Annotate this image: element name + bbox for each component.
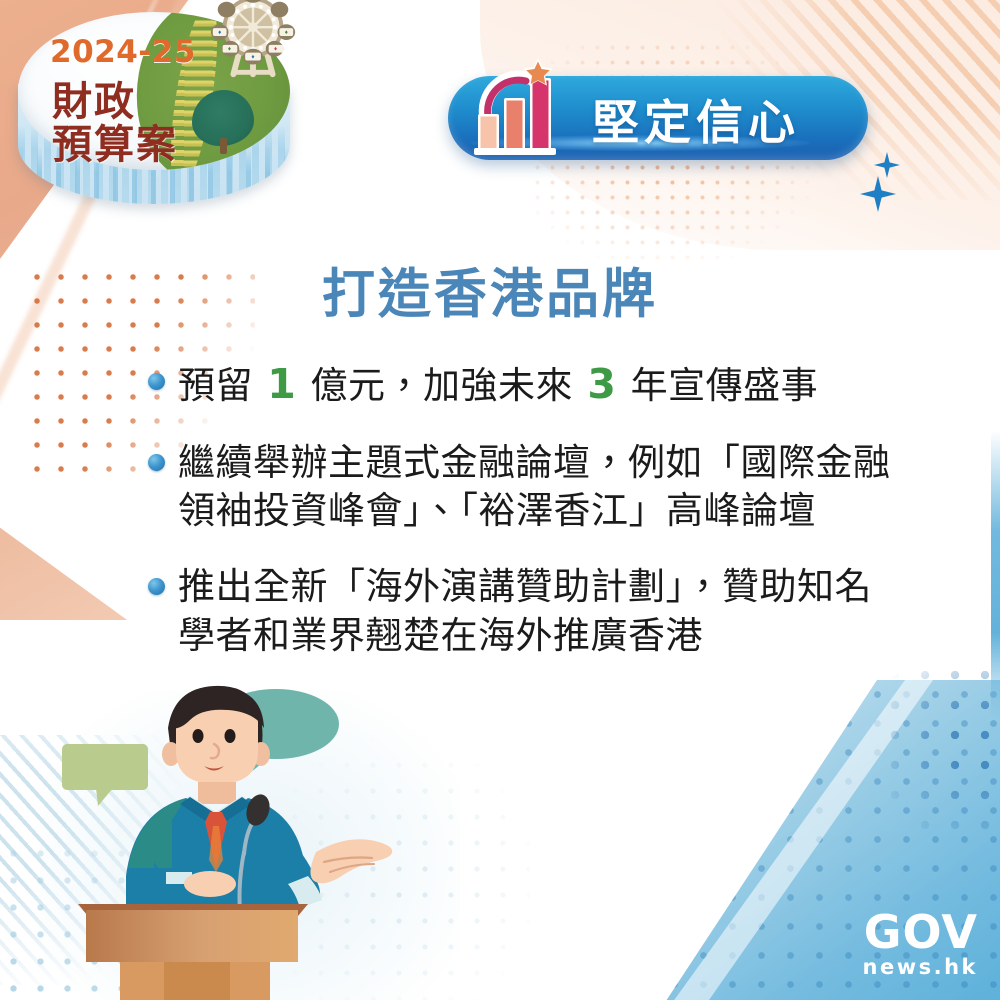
hand-left	[184, 871, 236, 897]
text-segment: 億元，加強未來	[298, 364, 585, 407]
list-item: 預留 1 億元，加強未來 3 年宣傳盛事	[148, 358, 908, 411]
bottom-right-dense-dots	[850, 660, 1000, 850]
sparkle-icon-small	[874, 152, 900, 178]
svg-text:♦: ♦	[217, 30, 221, 36]
text-segment: 預留	[178, 364, 265, 407]
bullet-list: 預留 1 億元，加強未來 3 年宣傳盛事 繼續舉辦主題式金融論壇，例如「國際金融…	[148, 358, 908, 688]
eye-left	[193, 729, 204, 743]
highlight-number: 1	[265, 360, 298, 408]
badge-title-line2: 預算案	[52, 112, 178, 170]
page-title: 打造香港品牌	[322, 252, 658, 328]
logo-newshk-text: news.hk	[863, 957, 979, 978]
text-segment: 繼續舉辦主題式金融論壇，例如「國際金融領袖投資峰會」、「裕澤香江」高峰論壇	[178, 441, 891, 532]
hand-right	[310, 839, 392, 883]
speech-bubble-green-icon	[62, 744, 148, 806]
podium	[78, 904, 308, 1000]
sparkle-icon-large	[860, 176, 896, 212]
ferris-wheel-icon: ♦ ♦ ♦ ♦ ♦	[204, 0, 302, 86]
list-item: 繼續舉辦主題式金融論壇，例如「國際金融領袖投資峰會」、「裕澤香江」高峰論壇	[148, 439, 908, 535]
tree-trunk	[220, 138, 227, 154]
bullet-text: 推出全新「海外演講贊助計劃」，贊助知名學者和業界翹楚在海外推廣香港	[178, 563, 908, 659]
bar-chart-star-icon	[466, 56, 570, 160]
svg-text:♦: ♦	[227, 47, 231, 53]
bullet-text: 繼續舉辦主題式金融論壇，例如「國際金融領袖投資峰會」、「裕澤香江」高峰論壇	[178, 439, 908, 535]
text-segment: 年宣傳盛事	[618, 364, 818, 407]
bullet-text: 預留 1 億元，加強未來 3 年宣傳盛事	[178, 358, 818, 411]
right-edge-blue-strip	[991, 430, 1000, 720]
budget-badge: ♦ ♦ ♦ ♦ ♦ 2024-25 財政 預算案	[8, 0, 308, 227]
infographic-poster: ♦ ♦ ♦ ♦ ♦ 2024-25 財政 預算案 堅定信心	[0, 0, 1000, 1000]
bullet-dot-icon	[148, 373, 165, 390]
badge-year-label: 2024-25	[50, 34, 196, 70]
eye-right	[225, 729, 236, 743]
svg-text:♦: ♦	[273, 47, 277, 53]
govhk-news-logo: GOV news.hk	[863, 909, 979, 978]
bullet-dot-icon	[148, 578, 165, 595]
text-segment: 推出全新「海外演講贊助計劃」，贊助知名學者和業界翹楚在海外推廣香港	[178, 565, 872, 656]
svg-text:♦: ♦	[284, 30, 288, 36]
list-item: 推出全新「海外演講贊助計劃」，贊助知名學者和業界翹楚在海外推廣香港	[148, 563, 908, 659]
bullet-dot-icon	[148, 454, 165, 471]
highlight-number: 3	[585, 360, 618, 408]
svg-text:♦: ♦	[251, 55, 255, 61]
speaker-at-podium-illustration	[58, 676, 438, 1000]
logo-gov-text: GOV	[863, 909, 979, 955]
